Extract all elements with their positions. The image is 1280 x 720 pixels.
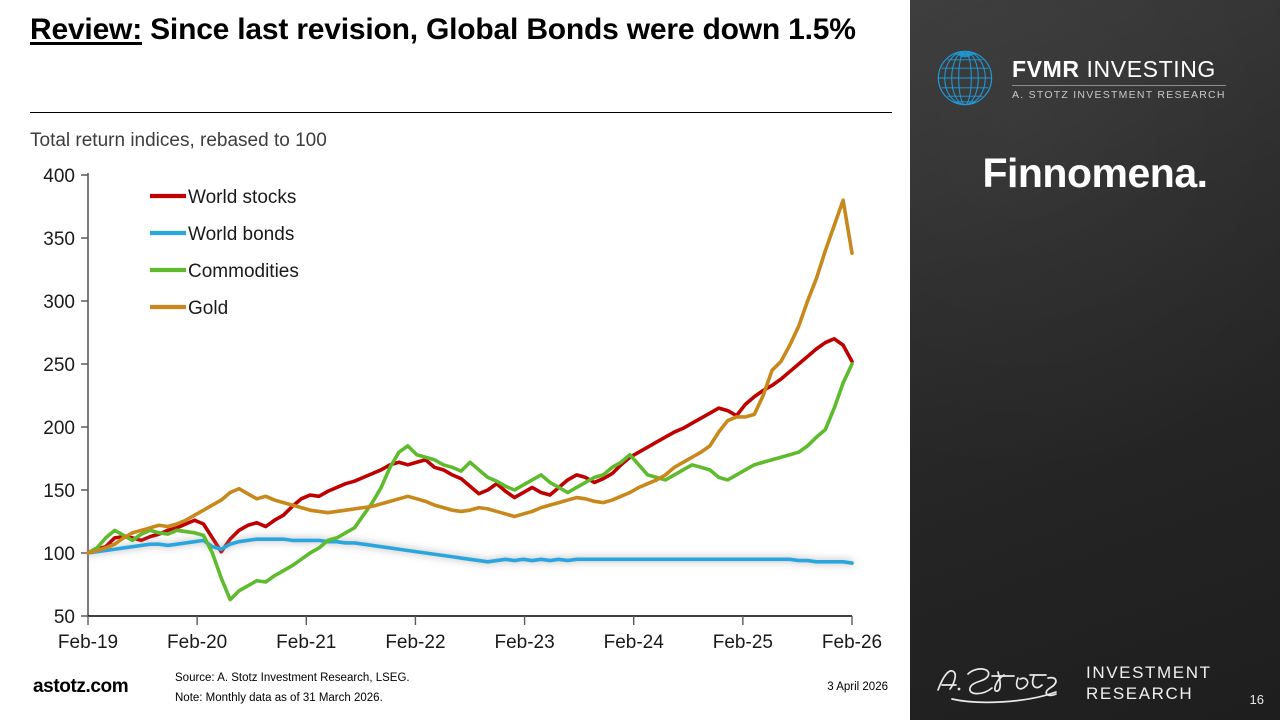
finnomena-wordmark: Finnomena.: [910, 150, 1280, 197]
x-axis-tick-label: Feb-22: [385, 632, 445, 653]
footer-date: 3 April 2026: [827, 681, 888, 693]
y-axis-tick-label: 400: [43, 166, 75, 187]
chart-line-commodities: [88, 364, 852, 600]
chart-legend: World stocksWorld bondsCommoditiesGold: [150, 187, 299, 319]
x-axis-tick-label: Feb-20: [167, 632, 227, 653]
y-axis-tick-label: 200: [43, 418, 75, 439]
sidebar: FVMR INVESTING A. STOTZ INVESTMENT RESEA…: [910, 0, 1280, 720]
legend-label-gold: Gold: [188, 298, 228, 319]
x-axis-tick-label: Feb-23: [494, 632, 554, 653]
legend-label-commodities: Commodities: [188, 261, 299, 282]
y-axis-tick-label: 150: [43, 481, 75, 502]
x-axis: Feb-19Feb-20Feb-21Feb-22Feb-23Feb-24Feb-…: [58, 616, 882, 653]
y-axis-tick-label: 300: [43, 292, 75, 313]
main-content-area: Review: Since last revision, Global Bond…: [0, 0, 910, 720]
chart-line-world-stocks: [88, 339, 852, 553]
slide: Review: Since last revision, Global Bond…: [0, 0, 1280, 720]
x-axis-tick-label: Feb-19: [58, 632, 118, 653]
footer-source: Source: A. Stotz Investment Research, LS…: [175, 672, 410, 684]
y-axis: 50100150200250300350400: [43, 166, 88, 628]
astotz-research-text: INVESTMENT RESEARCH: [1086, 662, 1212, 705]
astotz-line2: RESEARCH: [1086, 683, 1212, 704]
fvmr-logo: FVMR INVESTING A. STOTZ INVESTMENT RESEA…: [930, 42, 1265, 114]
legend-label-world-bonds: World bonds: [188, 224, 294, 245]
y-axis-tick-label: 250: [43, 355, 75, 376]
chart-canvas: 50100150200250300350400 Feb-19Feb-20Feb-…: [0, 160, 910, 670]
sidebar-top: FVMR INVESTING A. STOTZ INVESTMENT RESEA…: [910, 0, 1280, 278]
y-axis-tick-label: 50: [54, 607, 75, 628]
sidebar-footer: INVESTMENT RESEARCH 16: [910, 646, 1280, 720]
y-axis-tick-label: 100: [43, 544, 75, 565]
x-axis-tick-label: Feb-24: [604, 632, 665, 653]
fvmr-bold: FVMR: [1012, 56, 1080, 82]
x-axis-tick-label: Feb-25: [713, 632, 773, 653]
legend-label-world-stocks: World stocks: [188, 187, 296, 208]
globe-icon: [930, 43, 1000, 113]
astotz-signature-icon: [930, 658, 1080, 706]
astotz-line1: INVESTMENT: [1086, 662, 1212, 683]
fvmr-logo-tagline: A. STOTZ INVESTMENT RESEARCH: [1012, 89, 1226, 101]
chart-line-world-bonds: [88, 539, 852, 563]
page-title-rest: Since last revision, Global Bonds were d…: [142, 13, 856, 46]
fvmr-logo-wordmark: FVMR INVESTING: [1012, 57, 1226, 81]
fvmr-logo-divider: [1012, 85, 1226, 86]
x-axis-tick-label: Feb-26: [822, 632, 882, 653]
footer: astotz.com Source: A. Stotz Investment R…: [0, 664, 910, 720]
page-title-underlined: Review:: [30, 13, 142, 46]
x-axis-tick-label: Feb-21: [276, 632, 336, 653]
fvmr-light: INVESTING: [1080, 56, 1216, 82]
fvmr-logo-text: FVMR INVESTING A. STOTZ INVESTMENT RESEA…: [1012, 55, 1226, 101]
y-axis-tick-label: 350: [43, 229, 75, 250]
footer-brand[interactable]: astotz.com: [33, 676, 128, 698]
chart-line-gold: [88, 200, 852, 553]
page-title: Review: Since last revision, Global Bond…: [30, 10, 880, 50]
line-chart: 50100150200250300350400 Feb-19Feb-20Feb-…: [0, 160, 910, 670]
title-divider: [30, 112, 892, 113]
page-number: 16: [1250, 692, 1264, 707]
footer-note: Note: Monthly data as of 31 March 2026.: [175, 692, 383, 704]
chart-subtitle: Total return indices, rebased to 100: [30, 130, 327, 152]
